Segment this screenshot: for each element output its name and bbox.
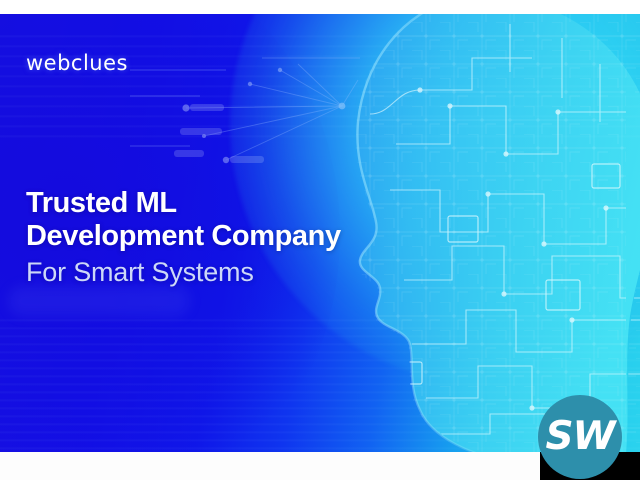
ml-development-company-banner: webclues Trusted ML Development Company … [0, 0, 640, 480]
sw-watermark-badge[interactable]: SW [538, 395, 622, 479]
network-nodes-icon [130, 50, 360, 190]
ghost-button-shape [8, 286, 190, 316]
webclues-logo[interactable]: webclues [26, 53, 128, 74]
headline-line-2: Development Company [26, 220, 446, 253]
top-white-band [0, 0, 640, 14]
headline-block: Trusted ML Development Company For Smart… [26, 187, 446, 288]
subheadline: For Smart Systems [26, 257, 446, 288]
sw-watermark-label: SW [545, 417, 614, 456]
headline-line-1: Trusted ML [26, 187, 446, 220]
banner-artwork-stage: webclues Trusted ML Development Company … [0, 14, 640, 452]
